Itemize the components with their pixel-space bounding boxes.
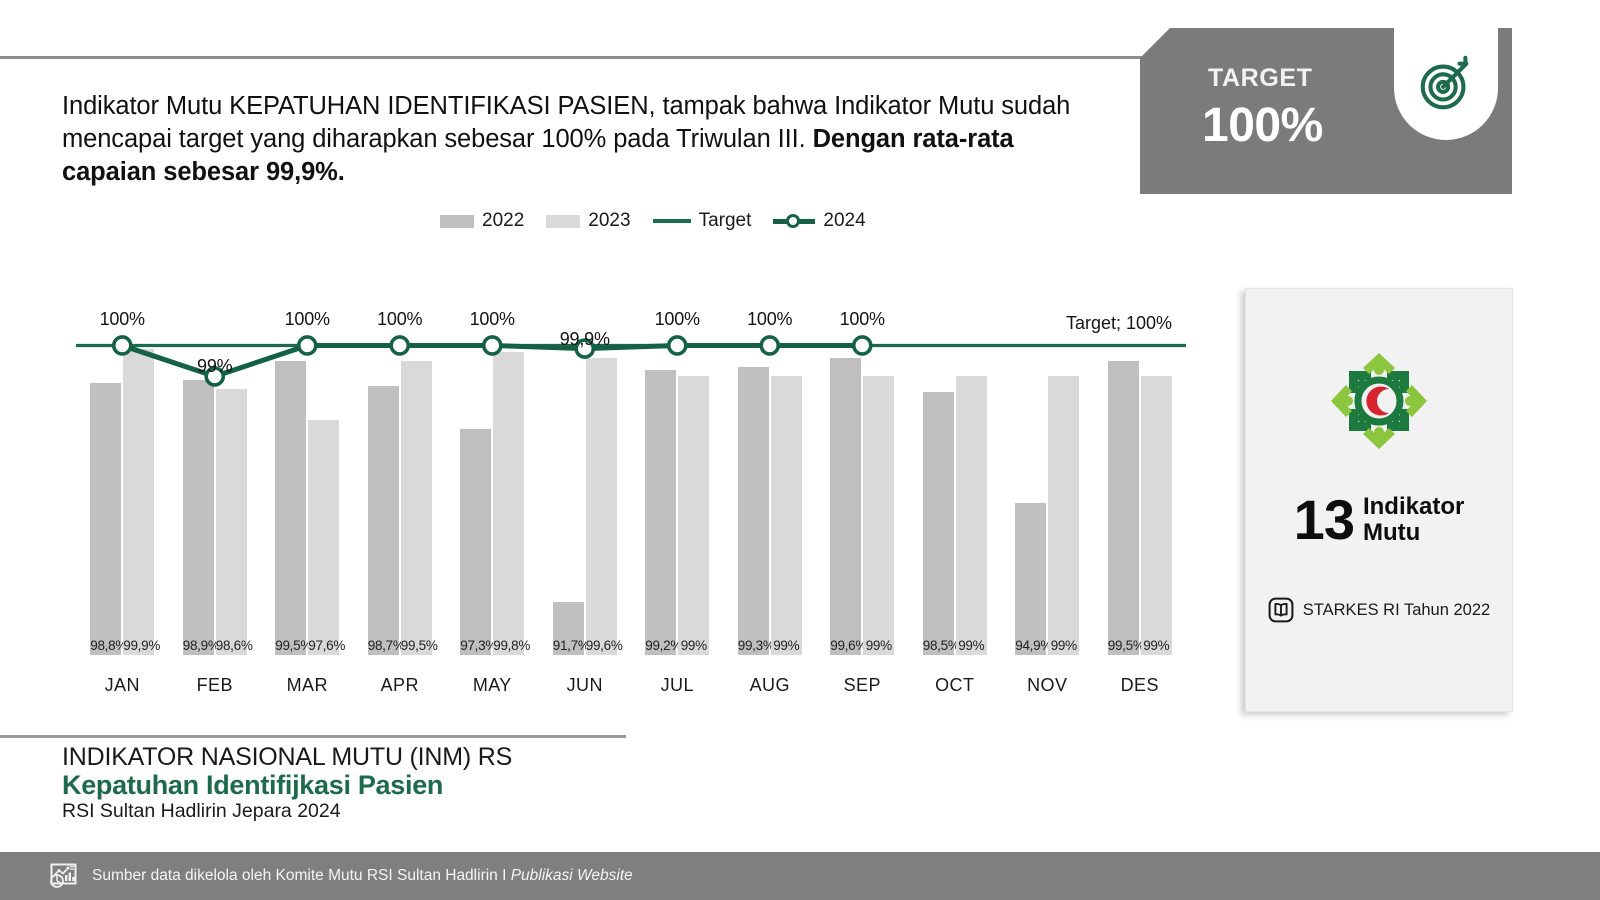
footer-bar: Sumber data dikelola oleh Komite Mutu RS… [0, 852, 1600, 900]
bottom-title-line1: INDIKATOR NASIONAL MUTU (INM) RS [62, 743, 512, 772]
x-axis-label-JUL: JUL [631, 675, 724, 696]
chart-x-axis: JANFEBMARAPRMAYJUNJULAUGSEPOCTNOVDES [76, 675, 1186, 705]
target-banner-label: TARGET [1208, 64, 1313, 93]
x-axis-label-JAN: JAN [76, 675, 169, 696]
footer-text-italic: Publikasi Website [511, 867, 633, 884]
rsi-sultan-hadlirin-logo-icon [1319, 341, 1439, 461]
data-point-2024-APR[interactable] [391, 337, 408, 354]
legend-line-target-icon [653, 219, 691, 223]
x-axis-label-MAR: MAR [261, 675, 354, 696]
indicator-count-label: Indikator Mutu [1363, 494, 1464, 546]
top-divider [0, 56, 1160, 59]
data-point-2024-JAN[interactable] [114, 337, 131, 354]
footer-text: Sumber data dikelola oleh Komite Mutu RS… [92, 867, 633, 885]
x-axis-label-FEB: FEB [169, 675, 262, 696]
bottom-title-line3: RSI Sultan Hadlirin Jepara 2024 [62, 800, 341, 823]
legend-label-2024: 2024 [823, 210, 865, 232]
point-label-2024-SEP: 100% [796, 309, 929, 330]
legend-label-target: Target [699, 210, 752, 232]
x-axis-label-MAY: MAY [446, 675, 539, 696]
analytics-icon [48, 862, 78, 890]
indicator-count-row: 13 Indikator Mutu [1246, 494, 1512, 546]
legend-marker-2024-icon [773, 214, 815, 228]
hospital-logo-wrap [1246, 341, 1512, 461]
footer-text-plain: Sumber data dikelola oleh Komite Mutu RS… [92, 867, 511, 884]
target-annotation: Target; 100% [1066, 313, 1172, 334]
data-point-2024-AUG[interactable] [761, 337, 778, 354]
data-point-2024-MAY[interactable] [484, 337, 501, 354]
info-card: 13 Indikator Mutu STARKES RI Tahun 2022 [1245, 288, 1513, 712]
legend-item-2024[interactable]: 2024 [773, 210, 865, 232]
bottom-divider [0, 735, 626, 738]
legend-swatch-2022-icon [440, 215, 474, 228]
indicator-count-number: 13 [1294, 494, 1354, 546]
legend-label-2023: 2023 [588, 210, 630, 232]
starkes-source-row: STARKES RI Tahun 2022 [1246, 597, 1512, 623]
target-icon [1415, 53, 1477, 115]
point-label-2024-JUN: 99,9% [519, 329, 652, 350]
legend-label-2022: 2022 [482, 210, 524, 232]
x-axis-label-SEP: SEP [816, 675, 909, 696]
point-label-2024-MAY: 100% [426, 309, 559, 330]
data-point-2024-MAR[interactable] [299, 337, 316, 354]
chart-legend: 2022 2023 Target 2024 [440, 210, 866, 232]
indicator-count-label-line2: Mutu [1363, 519, 1420, 546]
legend-item-2023[interactable]: 2023 [546, 210, 630, 232]
point-label-2024-JAN: 100% [56, 309, 189, 330]
legend-swatch-2023-icon [546, 215, 580, 228]
starkes-source-label: STARKES RI Tahun 2022 [1303, 601, 1490, 620]
target-banner-value: 100% [1202, 98, 1323, 153]
data-point-2024-SEP[interactable] [854, 337, 871, 354]
indicator-count-label-line1: Indikator [1363, 493, 1464, 520]
data-point-2024-JUL[interactable] [669, 337, 686, 354]
headline-paragraph: Indikator Mutu KEPATUHAN IDENTIFIKASI PA… [62, 90, 1072, 189]
x-axis-label-DES: DES [1094, 675, 1187, 696]
x-axis-label-APR: APR [354, 675, 447, 696]
book-icon [1268, 597, 1294, 623]
chart-indikator-mutu: 98,8%99,9%98,9%98,6%99,5%97,6%98,7%99,5%… [62, 280, 1202, 710]
target-icon-badge [1394, 28, 1498, 140]
x-axis-label-AUG: AUG [724, 675, 817, 696]
legend-item-2022[interactable]: 2022 [440, 210, 524, 232]
bottom-title-line2: Kepatuhan Identifijkasi Pasien [62, 770, 443, 801]
x-axis-label-JUN: JUN [539, 675, 632, 696]
legend-item-target[interactable]: Target [653, 210, 752, 232]
x-axis-label-OCT: OCT [909, 675, 1002, 696]
x-axis-label-NOV: NOV [1001, 675, 1094, 696]
point-label-2024-FEB: 99% [149, 356, 282, 377]
